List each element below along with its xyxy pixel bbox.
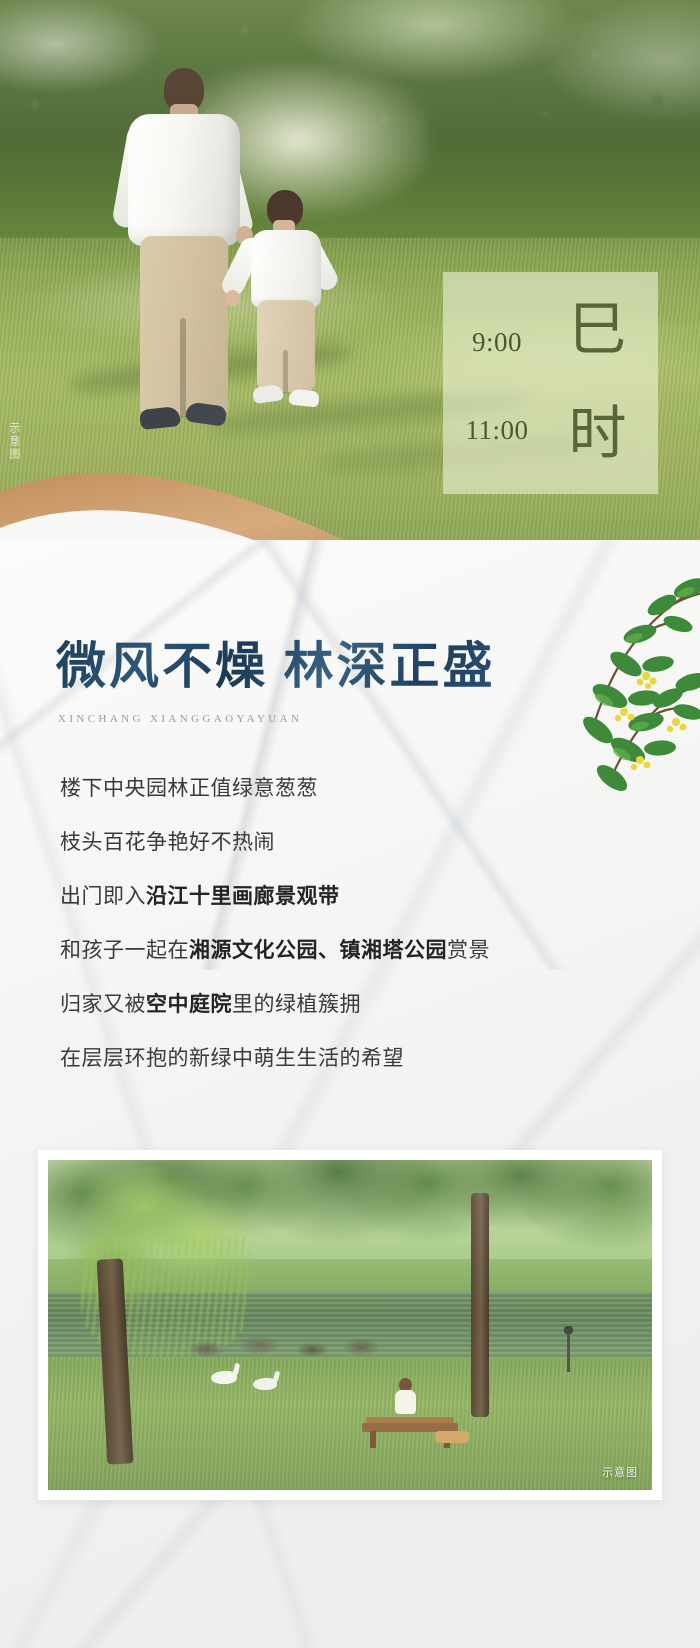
body-line: 枝头百花争艳好不热闹	[60, 832, 640, 853]
bottom-photo-card: 示意图	[38, 1150, 662, 1500]
body-text: 出门即入	[60, 885, 146, 908]
body-highlight: 沿江十里画廊景观带	[146, 885, 340, 908]
body-text: 楼下中央园林正值绿意葱葱	[60, 777, 318, 800]
start-time: 9:00	[472, 327, 522, 358]
body-line: 和孩子一起在湘源文化公园、镇湘塔公园赏景	[60, 940, 640, 961]
poster-root: 示意图 9:00 11:00 巳 时	[0, 0, 700, 1648]
body-line: 出门即入沿江十里画廊景观带	[60, 886, 640, 907]
bottom-photo: 示意图	[48, 1160, 652, 1490]
page-title: 微风不燥 林深正盛	[56, 626, 496, 698]
child-figure	[245, 190, 340, 420]
body-text: 在层层环抱的新绿中萌生生活的希望	[60, 1047, 404, 1070]
body-line: 归家又被空中庭院里的绿植簇拥	[60, 994, 640, 1015]
body-text: 归家又被	[60, 993, 146, 1016]
hour-name-char-1: 巳	[568, 301, 626, 359]
photo-light-overlay	[48, 1160, 652, 1490]
body-text: 里的绿植簇拥	[232, 993, 361, 1016]
osmanthus-branch-decoration	[540, 572, 700, 832]
page-subtitle: XINCHANG XIANGGAOYAYUAN	[58, 713, 302, 725]
adult-figure	[120, 68, 250, 438]
body-line: 在层层环抱的新绿中萌生生活的希望	[60, 1048, 640, 1069]
bottom-photo-watermark: 示意图	[602, 1464, 638, 1480]
body-highlight: 空中庭院	[146, 993, 232, 1016]
body-text: 和孩子一起在	[60, 939, 189, 962]
body-text: 枝头百花争艳好不热闹	[60, 831, 275, 854]
body-highlight: 湘源文化公园、镇湘塔公园	[189, 939, 447, 962]
body-text: 赏景	[447, 939, 490, 962]
